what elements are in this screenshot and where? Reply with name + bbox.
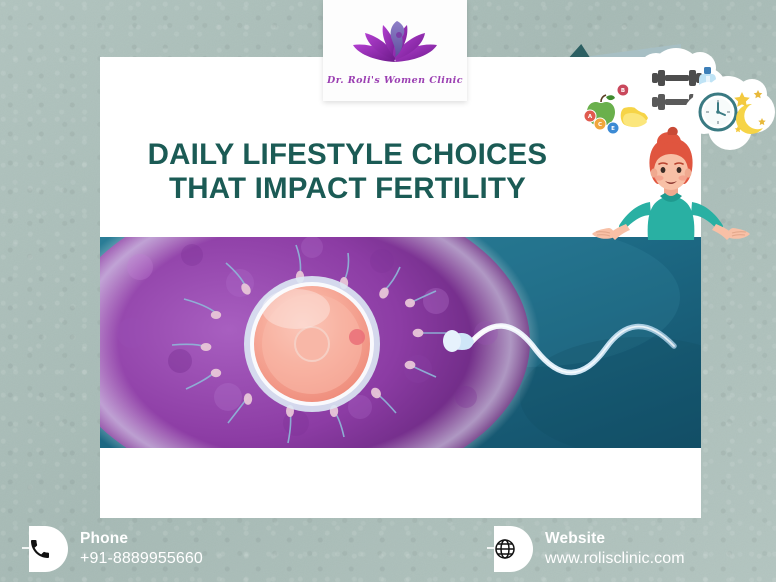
globe-icon xyxy=(493,537,517,561)
fertility-photo xyxy=(100,237,701,448)
clinic-logo-card: Dr. Roli's Women Clinic xyxy=(323,0,467,101)
footer-bar: Phone +91-8889955660 W xyxy=(0,518,776,582)
website-label: Website xyxy=(545,530,685,547)
svg-text:B: B xyxy=(621,88,625,94)
phone-label: Phone xyxy=(80,530,203,547)
contact-phone[interactable]: Phone +91-8889955660 xyxy=(22,526,203,572)
lotus-woman-icon xyxy=(347,15,443,71)
title-line-1: DAILY LIFESTYLE CHOICES xyxy=(148,138,548,171)
lifestyle-illustration: A C E B xyxy=(572,42,776,240)
phone-value: +91-8889955660 xyxy=(80,550,203,568)
page-title: DAILY LIFESTYLE CHOICES THAT IMPACT FERT… xyxy=(100,138,595,206)
clinic-logo-text: Dr. Roli's Women Clinic xyxy=(327,75,463,86)
phone-icon xyxy=(28,537,52,561)
svg-text:C: C xyxy=(598,122,602,128)
poster-canvas: DAILY LIFESTYLE CHOICES THAT IMPACT FERT… xyxy=(0,0,776,582)
contact-website[interactable]: Website www.rolisclinic.com xyxy=(487,526,685,572)
svg-text:E: E xyxy=(611,126,615,132)
globe-icon-badge xyxy=(487,526,533,572)
phone-icon-badge xyxy=(22,526,68,572)
title-line-2: THAT IMPACT FERTILITY xyxy=(100,172,595,206)
svg-text:A: A xyxy=(588,114,593,120)
website-value: www.rolisclinic.com xyxy=(545,550,685,568)
